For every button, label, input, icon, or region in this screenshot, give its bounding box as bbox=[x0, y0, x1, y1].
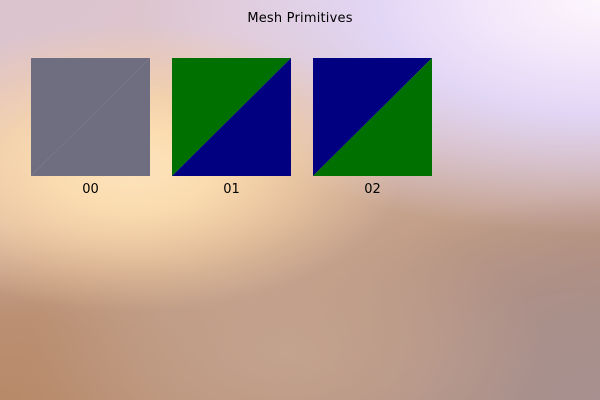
mesh-primitive-swatch bbox=[172, 58, 291, 176]
mesh-primitive-label: 01 bbox=[152, 182, 311, 197]
mesh-primitive-tile[interactable]: 00 bbox=[31, 58, 150, 176]
page-title: Mesh Primitives bbox=[0, 11, 600, 26]
mesh-primitive-swatch bbox=[313, 58, 432, 176]
mesh-primitive-label: 00 bbox=[11, 182, 170, 197]
mesh-primitive-tile[interactable]: 02 bbox=[313, 58, 432, 176]
mesh-primitive-swatch bbox=[31, 58, 150, 176]
mesh-primitive-tile[interactable]: 01 bbox=[172, 58, 291, 176]
mesh-primitive-label: 02 bbox=[293, 182, 452, 197]
mesh-primitives-canvas: Mesh Primitives 00 01 02 bbox=[0, 0, 600, 400]
